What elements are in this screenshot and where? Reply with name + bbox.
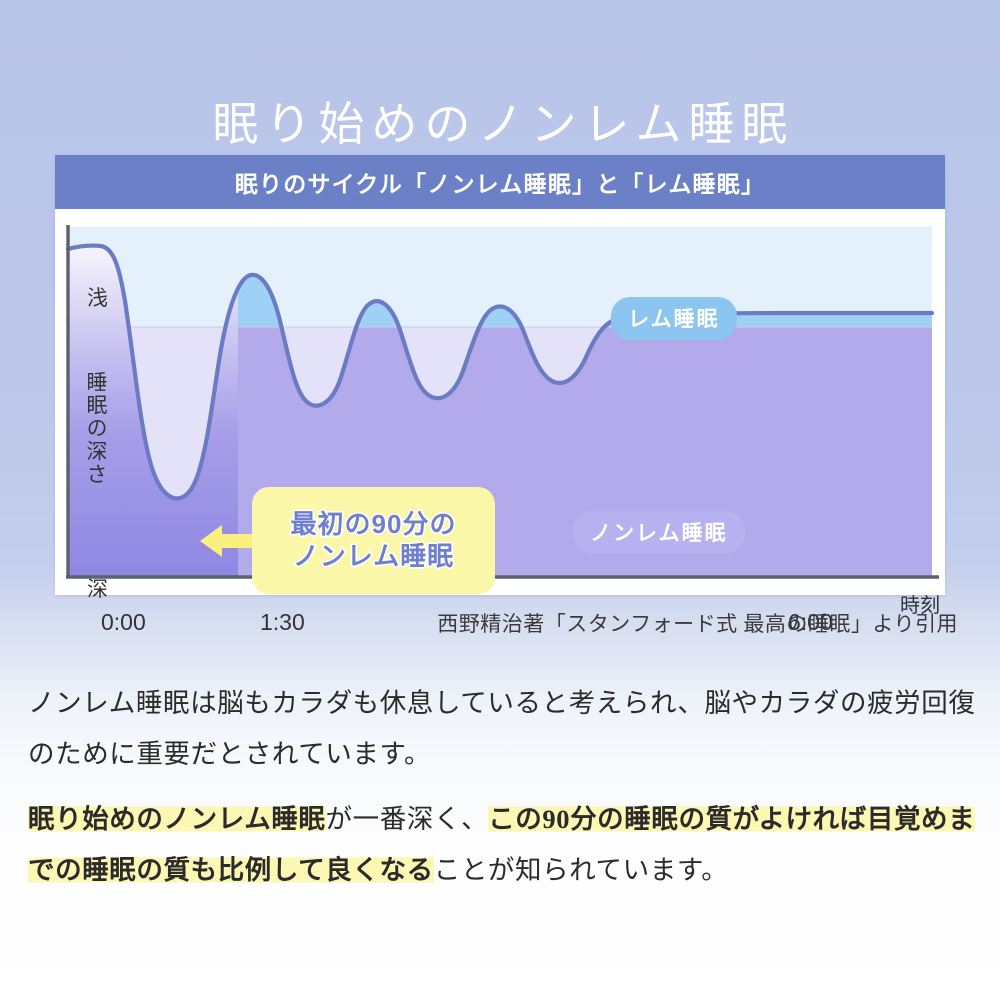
body-paragraph-2: 眠り始めのノンレム睡眠が一番深く、この90分の睡眠の質がよければ目覚めまでの睡眠… bbox=[28, 794, 976, 896]
highlight-1: 眠り始めのノンレム睡眠 bbox=[28, 804, 326, 834]
badge-nonrem-sleep: ノンレム睡眠 bbox=[573, 511, 745, 554]
body-copy: ノンレム睡眠は脳もカラダも休息していると考えられ、脳やカラダの疲労回復のために重… bbox=[28, 678, 976, 911]
body-p2-tail: ことが知られています。 bbox=[434, 855, 729, 885]
callout-line-2: ノンレム睡眠 bbox=[293, 541, 454, 572]
y-axis-label-shallow: 浅 bbox=[87, 282, 108, 312]
body-paragraph-1: ノンレム睡眠は脳もカラダも休息していると考えられ、脳やカラダの疲労回復のために重… bbox=[28, 678, 976, 780]
callout-line-1: 最初の90分の bbox=[291, 509, 457, 540]
chart-header-title: 眠りのサイクル「ノンレム睡眠」と「レム睡眠」 bbox=[55, 155, 945, 209]
chart-plot-area: 浅 睡眠の深さ 深 0:00 1:30 6:00 時刻 レム睡眠 ノンレム睡眠 … bbox=[55, 209, 945, 595]
y-axis-title: 睡眠の深さ bbox=[85, 371, 106, 486]
chart-citation: 西野精治著「スタンフォード式 最高の睡眠」より引用 bbox=[0, 608, 958, 638]
body-p2-mid: が一番深く、 bbox=[326, 804, 489, 834]
y-axis-label-deep: 深 bbox=[87, 573, 108, 603]
chart-card: 眠りのサイクル「ノンレム睡眠」と「レム睡眠」 bbox=[55, 155, 945, 595]
badge-rem-sleep: レム睡眠 bbox=[611, 297, 737, 340]
callout-first-90-minutes: 最初の90分の ノンレム睡眠 bbox=[252, 487, 495, 594]
sleep-cycle-chart-svg bbox=[55, 209, 945, 595]
callout-arrow-icon bbox=[198, 521, 260, 561]
page-title: 眠り始めのノンレム睡眠 bbox=[0, 88, 1000, 154]
